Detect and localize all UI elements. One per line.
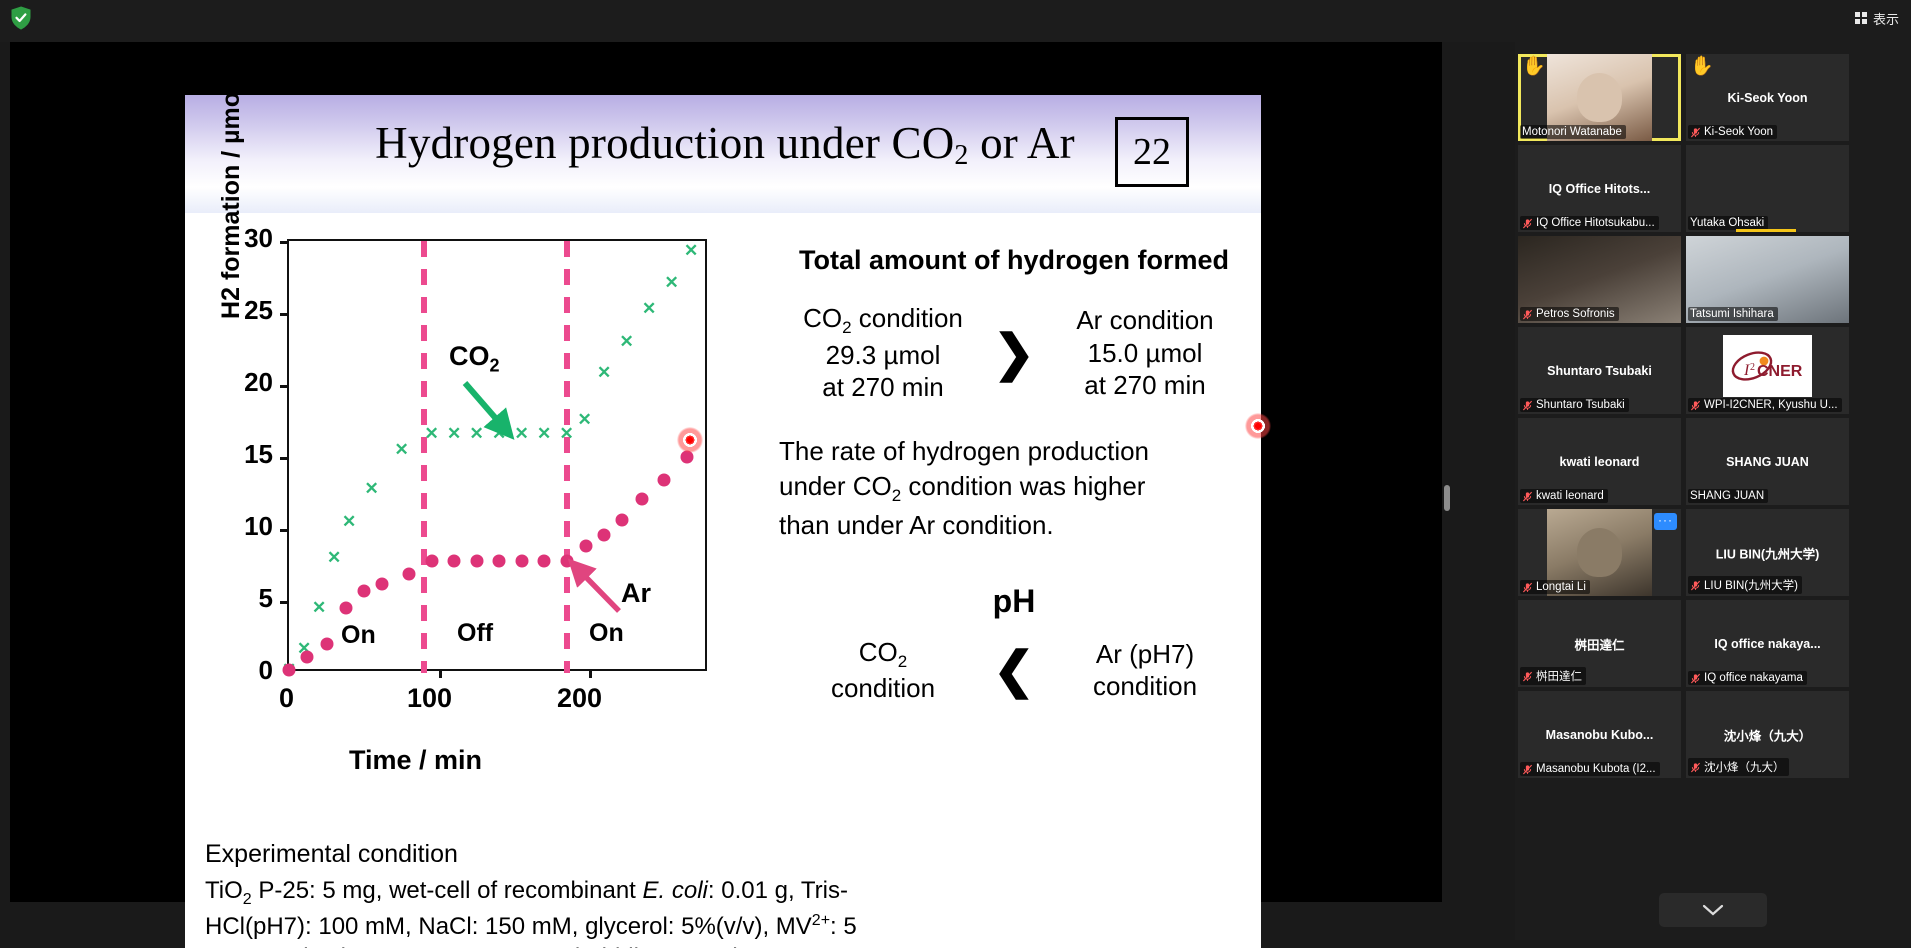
chart-y-tick-mark (280, 385, 289, 388)
participant-tile[interactable]: 沈小烽（九大）沈小烽（九大） (1686, 691, 1849, 778)
avatar (1577, 73, 1623, 122)
participant-center-name: SHANG JUAN (1686, 455, 1849, 469)
experimental-condition-body: TiO2 P-25: 5 mg, wet-cell of recombinant… (205, 875, 1245, 948)
chart-data-point (301, 651, 314, 664)
participant-name-badge: Motonori Watanabe (1520, 125, 1626, 139)
participant-name-badge: 沈小烽（九大） (1688, 758, 1789, 776)
chart-ar-series-annotation: Ar (621, 578, 651, 609)
grid-icon (1855, 12, 1868, 25)
participant-center-name: Masanobu Kubo... (1518, 728, 1681, 742)
chart-phase-divider (564, 241, 570, 673)
participant-tile[interactable]: Yutaka Ohsaki (1686, 145, 1849, 232)
mic-muted-icon (1522, 309, 1533, 320)
participant-tile[interactable]: Petros Sofronis (1518, 236, 1681, 323)
participant-tile[interactable]: Longtai Li··· (1518, 509, 1681, 596)
chart-phase-label: Off (457, 619, 493, 648)
participant-name-badge: Longtai Li (1520, 580, 1590, 594)
participant-name: Motonori Watanabe (1522, 126, 1622, 138)
participant-name-badge: Yutaka Ohsaki (1688, 216, 1768, 230)
laser-pointer-dot (1245, 413, 1271, 439)
ar-condition-time: at 270 min (1050, 369, 1240, 402)
ph-co2-title: CO2 (788, 636, 978, 673)
page-title: Hydrogen production under CO2 or Ar (305, 117, 1145, 172)
participant-tile[interactable]: Shuntaro TsubakiShuntaro Tsubaki (1518, 327, 1681, 414)
chart-data-point: ✕ (665, 276, 679, 290)
chart-data-point (635, 492, 648, 505)
mic-muted-icon (1522, 671, 1533, 682)
chart-data-point (658, 474, 671, 487)
participant-name-badge: kwati leonard (1520, 489, 1608, 503)
participant-name: Shuntaro Tsubaki (1536, 399, 1625, 411)
chart-y-tick-mark (280, 529, 289, 532)
participant-name: Yutaka Ohsaki (1690, 217, 1764, 229)
chart-data-point (470, 554, 483, 567)
presentation-slide: Hydrogen production under CO2 or Ar 22 H… (185, 95, 1261, 948)
participant-name-badge: Masanobu Kubota (I2... (1520, 762, 1660, 776)
chart-y-tick-label: 25 (227, 295, 273, 326)
chart-data-point: ✕ (642, 302, 656, 316)
chart-data-point (403, 567, 416, 580)
chart-data-point: ✕ (492, 427, 506, 441)
chart-data-point (340, 602, 353, 615)
participant-tile[interactable]: Tatsumi Ishihara (1686, 236, 1849, 323)
chart-data-point (358, 584, 371, 597)
participant-center-name: LIU BIN(九州大学) (1686, 543, 1849, 562)
chart-data-point: ✕ (395, 443, 409, 457)
chart-y-tick-label: 15 (227, 439, 273, 470)
participant-name: Tatsumi Ishihara (1690, 308, 1774, 320)
view-label: 表示 (1873, 9, 1899, 28)
mic-muted-icon (1690, 580, 1701, 591)
chart-data-point: ✕ (342, 515, 356, 529)
participant-name-badge: Tatsumi Ishihara (1688, 307, 1778, 321)
mic-muted-icon (1690, 762, 1701, 773)
chart-data-point: ✕ (365, 482, 379, 496)
chart-data-point: ✕ (327, 551, 341, 565)
participant-center-name: kwati leonard (1518, 455, 1681, 469)
participant-name-badge: Ki-Seok Yoon (1688, 125, 1777, 139)
mic-muted-icon (1522, 764, 1533, 775)
chart-data-point (425, 554, 438, 567)
participant-name: Ki-Seok Yoon (1704, 126, 1773, 138)
participant-name: Petros Sofronis (1536, 308, 1615, 320)
ph-ar-block: Ar (pH7) condition (1050, 638, 1240, 704)
slide-right-text: Total amount of hydrogen formed CO2 cond… (779, 245, 1249, 705)
co2-condition-value: 29.3 µmol (788, 339, 978, 372)
participant-tile[interactable]: LIU BIN(九州大学)LIU BIN(九州大学) (1686, 509, 1849, 596)
chart-data-point: ✕ (447, 427, 461, 441)
participant-name-badge: LIU BIN(九州大学) (1688, 576, 1802, 594)
svg-text:I: I (1743, 362, 1750, 379)
chart-data-point (448, 554, 461, 567)
total-comparison-row: CO2 condition 29.3 µmol at 270 min ❯ Ar … (779, 302, 1249, 404)
chart-y-tick-label: 30 (227, 223, 273, 254)
chart-data-point (598, 528, 611, 541)
ph-heading: pH (779, 583, 1249, 620)
chart-data-point: ✕ (312, 601, 326, 615)
experimental-condition-block: Experimental condition TiO2 P-25: 5 mg, … (205, 840, 1245, 948)
ph-co2-sub: condition (788, 672, 978, 705)
mic-muted-icon (1522, 400, 1533, 411)
participant-name: LIU BIN(九州大学) (1704, 577, 1798, 593)
svg-text:CNER: CNER (1757, 363, 1803, 380)
participant-center-name: 桝田達仁 (1518, 634, 1681, 653)
laser-pointer-dot (677, 427, 703, 453)
participant-tile[interactable]: kwati leonardkwati leonard (1518, 418, 1681, 505)
participant-tile[interactable]: SHANG JUANSHANG JUAN (1686, 418, 1849, 505)
chart-x-tick-label: 100 (407, 683, 452, 714)
participant-name: SHANG JUAN (1690, 490, 1764, 502)
more-options-button[interactable]: ··· (1654, 513, 1677, 530)
chart-phase-label: On (589, 619, 624, 648)
chart-data-point: ✕ (470, 427, 484, 441)
chart-x-tick-label: 200 (557, 683, 602, 714)
participant-name-badge: Petros Sofronis (1520, 307, 1619, 321)
i2cner-logo: I2CNER (1723, 335, 1812, 397)
chart-phase-label: On (341, 621, 376, 650)
co2-condition-block: CO2 condition 29.3 µmol at 270 min (788, 302, 978, 404)
chart-data-point (538, 554, 551, 567)
chart-y-tick-mark (280, 457, 289, 460)
participant-name: kwati leonard (1536, 490, 1604, 502)
participant-name-badge: IQ Office Hitotsukabu... (1520, 216, 1659, 230)
chart-y-tick-mark (280, 313, 289, 316)
participant-tile[interactable]: IQ Office Hitots...IQ Office Hitotsukabu… (1518, 145, 1681, 232)
participant-name-badge: WPI-I2CNER, Kyushu U... (1688, 398, 1842, 412)
participant-name-badge: IQ office nakayama (1688, 671, 1807, 685)
chart-data-point: ✕ (597, 366, 611, 380)
co2-condition-time: at 270 min (788, 371, 978, 404)
participant-name-badge: 桝田達仁 (1520, 667, 1586, 685)
view-button[interactable]: 表示 (1855, 9, 1899, 28)
svg-text:2: 2 (1750, 362, 1755, 373)
chart-data-point (580, 540, 593, 553)
participant-name: WPI-I2CNER, Kyushu U... (1704, 399, 1838, 411)
total-hydrogen-heading: Total amount of hydrogen formed (779, 245, 1249, 276)
chart-data-point (515, 554, 528, 567)
ar-condition-title: Ar condition (1050, 304, 1240, 337)
chart-data-point: ✕ (537, 427, 551, 441)
participant-center-name: 沈小烽（九大） (1686, 725, 1849, 744)
chart-plot-area: ✕✕✕✕✕✕✕✕✕✕✕✕✕✕✕✕✕✕✕✕OnOffOnCO2Ar (287, 239, 707, 671)
speaking-indicator (1736, 229, 1796, 232)
participant-name: IQ office nakayama (1704, 672, 1803, 684)
participant-tile[interactable]: 桝田達仁桝田達仁 (1518, 600, 1681, 687)
participant-tile[interactable]: Motonori Watanabe✋ (1518, 54, 1681, 141)
ph-ar-sub: condition (1050, 670, 1240, 703)
participant-tile[interactable]: I2CNERWPI-I2CNER, Kyushu U... (1686, 327, 1849, 414)
chevron-down-icon[interactable] (1659, 893, 1767, 927)
chart-x-tick-mark (589, 669, 592, 678)
mic-muted-icon (1522, 218, 1533, 229)
rate-line-3: than under Ar condition. (779, 508, 1249, 543)
chart-y-tick-label: 5 (227, 583, 273, 614)
chart-data-point: ✕ (578, 413, 592, 427)
mic-muted-icon (1690, 673, 1701, 684)
raised-hand-icon: ✋ (1522, 57, 1546, 76)
mic-muted-icon (1690, 127, 1701, 138)
shared-screen-stage: Hydrogen production under CO2 or Ar 22 H… (10, 42, 1442, 902)
mic-muted-icon (1522, 491, 1533, 502)
chart-y-tick-mark (280, 601, 289, 604)
chart-x-axis-label: Time / min (349, 745, 482, 776)
avatar (1577, 528, 1623, 577)
greater-than-icon: ❯ (978, 328, 1050, 378)
hydrogen-formation-chart: H2 formation / µmol ✕✕✕✕✕✕✕✕✕✕✕✕✕✕✕✕✕✕✕✕… (199, 221, 759, 781)
chart-x-tick-mark (439, 669, 442, 678)
mic-muted-icon (1690, 400, 1701, 411)
chart-phase-divider (421, 241, 427, 673)
participant-tile[interactable]: Masanobu Kubo...Masanobu Kubota (I2... (1518, 691, 1681, 778)
rate-line-1: The rate of hydrogen production (779, 434, 1249, 469)
chart-data-point: ✕ (620, 335, 634, 349)
ph-comparison-row: CO2 condition ❮ Ar (pH7) condition (779, 636, 1249, 705)
chart-data-point: ✕ (515, 427, 529, 441)
participant-name: 桝田達仁 (1536, 668, 1582, 684)
participant-name: IQ Office Hitotsukabu... (1536, 217, 1655, 229)
chart-co2-series-annotation: CO2 (449, 341, 500, 376)
participant-name-badge: SHANG JUAN (1688, 489, 1768, 503)
participant-center-name: IQ office nakaya... (1686, 637, 1849, 651)
participant-center-name: Ki-Seok Yoon (1686, 91, 1849, 105)
chart-y-tick-mark (280, 241, 289, 244)
top-bar: 表示 (0, 0, 1911, 42)
panel-resize-handle[interactable] (1444, 485, 1450, 511)
ar-condition-block: Ar condition 15.0 µmol at 270 min (1050, 304, 1240, 402)
chart-y-tick-label: 0 (227, 655, 273, 686)
participant-name: Masanobu Kubota (I2... (1536, 763, 1656, 775)
mic-muted-icon (1522, 582, 1533, 593)
participants-panel: Motonori Watanabe✋Ki-Seok YoonKi-Seok Yo… (1515, 42, 1911, 940)
chart-data-point (616, 514, 629, 527)
ar-condition-value: 15.0 µmol (1050, 337, 1240, 370)
raised-hand-icon: ✋ (1690, 57, 1714, 76)
participant-tile[interactable]: Ki-Seok YoonKi-Seok Yoon✋ (1686, 54, 1849, 141)
co2-condition-title: CO2 condition (788, 302, 978, 339)
chart-data-point: ✕ (560, 427, 574, 441)
chart-data-point (283, 664, 296, 677)
slide-number-badge: 22 (1115, 117, 1189, 187)
chart-data-point (376, 577, 389, 590)
participant-name: Longtai Li (1536, 581, 1586, 593)
chart-y-tick-label: 10 (227, 511, 273, 542)
chart-data-point: ✕ (684, 244, 698, 258)
chart-x-tick-label: 0 (279, 683, 294, 714)
chart-data-point (320, 638, 333, 651)
rate-paragraph: The rate of hydrogen production under CO… (779, 434, 1249, 543)
participant-tile[interactable]: IQ office nakaya...IQ office nakayama (1686, 600, 1849, 687)
participant-center-name: IQ Office Hitots... (1518, 182, 1681, 196)
chart-y-tick-label: 20 (227, 367, 273, 398)
participant-center-name: Shuntaro Tsubaki (1518, 364, 1681, 378)
chart-data-point (560, 554, 573, 567)
chart-data-point: ✕ (425, 427, 439, 441)
participant-name-badge: Shuntaro Tsubaki (1520, 398, 1629, 412)
chart-data-point (493, 554, 506, 567)
shield-check-icon[interactable] (10, 6, 32, 30)
less-than-icon: ❮ (978, 645, 1050, 695)
ph-ar-title: Ar (pH7) (1050, 638, 1240, 671)
experimental-condition-heading: Experimental condition (205, 840, 1245, 869)
rate-line-2: under CO2 condition was higher (779, 469, 1249, 508)
participant-name: 沈小烽（九大） (1704, 759, 1785, 775)
ph-co2-block: CO2 condition (788, 636, 978, 705)
